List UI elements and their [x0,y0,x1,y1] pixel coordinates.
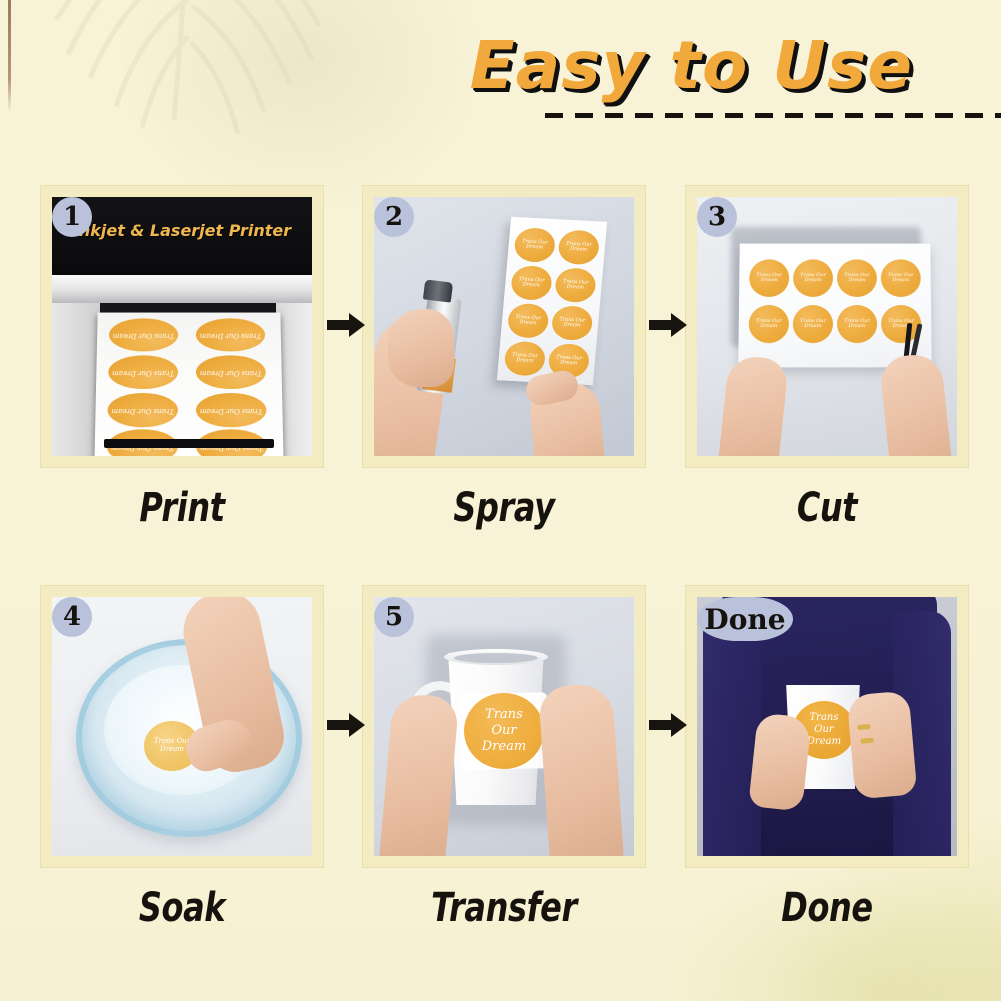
sticker-label: Trans Our Dream [881,273,921,283]
sticker-label: Trans Our Dream [552,317,593,330]
sticker-label: Trans Our Dream [200,406,263,413]
sticker-label: Trans Our Dream [558,241,599,254]
step-caption: Done [713,885,940,931]
photo-frame: Trans Our Dream 4 [40,585,324,868]
photo-soak: Trans Our Dream 4 [52,597,312,856]
step-number-badge: 4 [52,597,92,637]
sticker-label: Trans Our Dream [749,273,789,283]
sticker-label: Trans Our Dream [514,239,555,252]
photo-transfer: Trans Our Dream 5 [374,597,634,856]
sticker-line-2: Our [814,724,833,735]
sticker-label: Trans Our Dream [200,331,262,338]
photo-spray: Trans Our Dream Trans Our Dream Trans Ou… [374,197,634,456]
step-caption: Transfer [390,885,617,931]
photo-printer: Inkjet & Laserjet Printer Trans Our Drea… [52,197,312,456]
step-number-badge: 5 [374,597,414,637]
step-card-cut[interactable]: Trans Our Dream Trans Our Dream Trans Ou… [685,185,969,468]
sticker-label: Trans Our Dream [112,368,174,375]
photo-frame: Trans Our Dream 5 [362,585,646,868]
photo-frame: Trans Our Dream Done [685,585,969,868]
sticker-line-3: Dream [807,736,841,747]
step-card-transfer[interactable]: Trans Our Dream 5 Transfer [362,585,646,868]
step-number-badge: 2 [374,197,414,237]
step-done-badge: Done [697,597,793,641]
sticker-label: Trans Our Dream [113,331,175,338]
sticker-label: Trans Our Dream [749,319,789,330]
photo-frame: Inkjet & Laserjet Printer Trans Our Drea… [40,185,324,468]
step-caption: Cut [713,485,940,531]
sticker-label: Trans Our Dream [793,273,833,283]
sticker-sheet: Trans Our Dream Trans Our Dream Trans Ou… [94,313,283,456]
printer-overlay-label: Inkjet & Laserjet Printer [73,221,291,240]
sticker-label: Trans Our Dream [793,319,833,330]
sticker-label: Trans Our Dream [508,314,549,327]
sticker-label: Trans Our Dream [837,319,877,330]
step-card-print[interactable]: Inkjet & Laserjet Printer Trans Our Drea… [40,185,324,468]
steps-row-bottom: Trans Our Dream 4 Soak [0,550,1001,950]
sticker-line-1: Trans [810,712,839,723]
step-card-soak[interactable]: Trans Our Dream 4 Soak [40,585,324,868]
sticker-label: Trans Our Dream [504,352,545,365]
sticker-label: Trans Our Dream [881,319,921,330]
step-caption: Print [68,485,295,531]
left-hand [748,712,812,811]
hand-holding-can [388,309,454,387]
photo-done: Trans Our Dream Done [697,597,957,856]
title-dashed-divider [545,113,1001,118]
steps-row-top: Inkjet & Laserjet Printer Trans Our Drea… [0,150,1001,550]
step-arrow-icon [325,710,367,740]
step-number-badge: 1 [52,197,92,237]
right-hand [538,683,624,856]
sticker-line-1: Trans [485,707,523,722]
page-background: Easy to Use Inkjet & Laserjet Printer [0,0,1001,1001]
header: Easy to Use [0,0,1001,150]
right-hand [847,690,918,799]
step-caption: Soak [68,885,295,931]
sticker-label: Trans Our Dream [200,368,262,375]
page-title: Easy to Use [470,27,913,104]
sticker-label: Trans Our Dream [111,406,174,413]
spray-nozzle [423,279,453,302]
step-arrow-icon [325,310,367,340]
sticker-sheet: Trans Our Dream Trans Our Dream Trans Ou… [738,244,931,368]
sticker-line-3: Dream [482,739,526,754]
sticker-label: Trans Our Dream [511,277,552,290]
step-arrow-icon [647,310,689,340]
step-card-done[interactable]: Trans Our Dream Done Done [685,585,969,868]
sticker-label: Trans Our Dream [548,355,589,368]
sticker-line-2: Our [491,723,516,738]
photo-frame: Trans Our Dream Trans Our Dream Trans Ou… [685,185,969,468]
sticker-on-mug: Trans Our Dream [464,693,544,769]
step-number-badge: 3 [697,197,737,237]
step-arrow-icon [647,710,689,740]
photo-frame: Trans Our Dream Trans Our Dream Trans Ou… [362,185,646,468]
sticker-label: Trans Our Dream [555,279,596,292]
sticker-sheet: Trans Our Dream Trans Our Dream Trans Ou… [497,217,607,385]
steps-grid: Inkjet & Laserjet Printer Trans Our Drea… [0,150,1001,950]
sticker-label: Trans Our Dream [837,273,877,283]
step-card-spray[interactable]: Trans Our Dream Trans Our Dream Trans Ou… [362,185,646,468]
photo-cut: Trans Our Dream Trans Our Dream Trans Ou… [697,197,957,456]
step-caption: Spray [390,485,617,531]
